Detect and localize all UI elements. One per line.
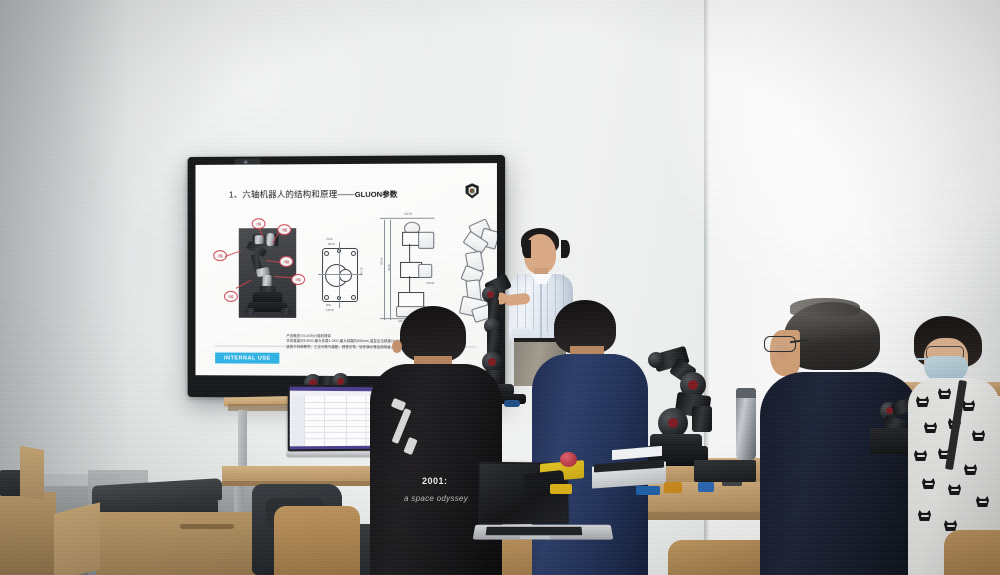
- chair-far-right: [944, 530, 1000, 575]
- cad-dim-b3: 63.00: [388, 264, 391, 271]
- emergency-stop-button[interactable]: [560, 452, 577, 467]
- presenter-hair-left: [522, 240, 531, 258]
- slide-title-emphasis: GLUON参数: [355, 190, 398, 199]
- cad-dim-a5: 247.10: [360, 268, 363, 276]
- attendee-right-hair-top: [790, 298, 860, 316]
- cad-dim-b2: 118.50: [380, 258, 383, 266]
- blue-tool-2: [698, 482, 714, 492]
- controller-box: [694, 460, 756, 482]
- attendee-far-right-masked: [908, 316, 1000, 575]
- tshirt-print-line-1: 2001:: [422, 476, 448, 486]
- thermos-bottle: [736, 388, 756, 460]
- orange-tool: [664, 482, 682, 493]
- carton-flap-center: [54, 502, 100, 575]
- chair-left: [274, 506, 360, 575]
- tshirt-print-line-2: a space odyssey: [404, 494, 468, 503]
- glasses-icon: [764, 336, 796, 352]
- thermos-cap: [736, 388, 756, 398]
- slide-title: 1、六轴机器人的结构和原理——GLUON参数: [229, 188, 397, 201]
- attendee-left-hair: [400, 306, 466, 362]
- chair-right-front: [668, 540, 774, 575]
- attendee-left-ear: [392, 340, 402, 353]
- shield-badge-logo-icon: [466, 183, 479, 198]
- carton-flap-left: [20, 446, 44, 500]
- photo-scene: COINT 1、六轴机器人的结构和原理——GLUON参数: [0, 0, 1000, 575]
- six-axis-robot-photo: [239, 228, 296, 318]
- carton-handle: [180, 524, 234, 529]
- presenter-collar: [531, 274, 552, 284]
- callout-3: 3轴: [277, 224, 291, 235]
- callout-5: 5轴: [291, 274, 305, 285]
- internal-use-badge: INTERNAL USE: [215, 352, 279, 363]
- cad-dim-a3: Ø46: [326, 304, 331, 307]
- slide-title-number: 1、: [229, 189, 242, 199]
- laptop-trackpad[interactable]: [520, 536, 551, 539]
- laptop-keyboard[interactable]: [486, 527, 583, 535]
- cad-dim-b1: 152.00: [404, 213, 412, 216]
- cad-dim-a2: 58.00: [328, 243, 334, 246]
- laptop-front-base[interactable]: [473, 525, 614, 540]
- presenter-hair-right: [561, 240, 570, 258]
- blue-tool: [636, 486, 660, 495]
- cad-dim-a1: 76.00: [326, 238, 332, 241]
- cad-dim-a4: 129.30: [326, 309, 334, 312]
- cardboard-box-left: [0, 492, 56, 575]
- cad-dim-b4: 275.32: [426, 282, 434, 285]
- robot-cable-connector: [504, 400, 520, 407]
- slide-title-text: 六轴机器人的结构和原理——: [242, 189, 354, 199]
- cad-base-top-view: 76.00 58.00 Ø46 129.30 247.10: [312, 236, 366, 320]
- callout-6: 6轴: [224, 291, 238, 302]
- callout-4: 4轴: [279, 256, 293, 267]
- yellow-tool: [550, 484, 572, 494]
